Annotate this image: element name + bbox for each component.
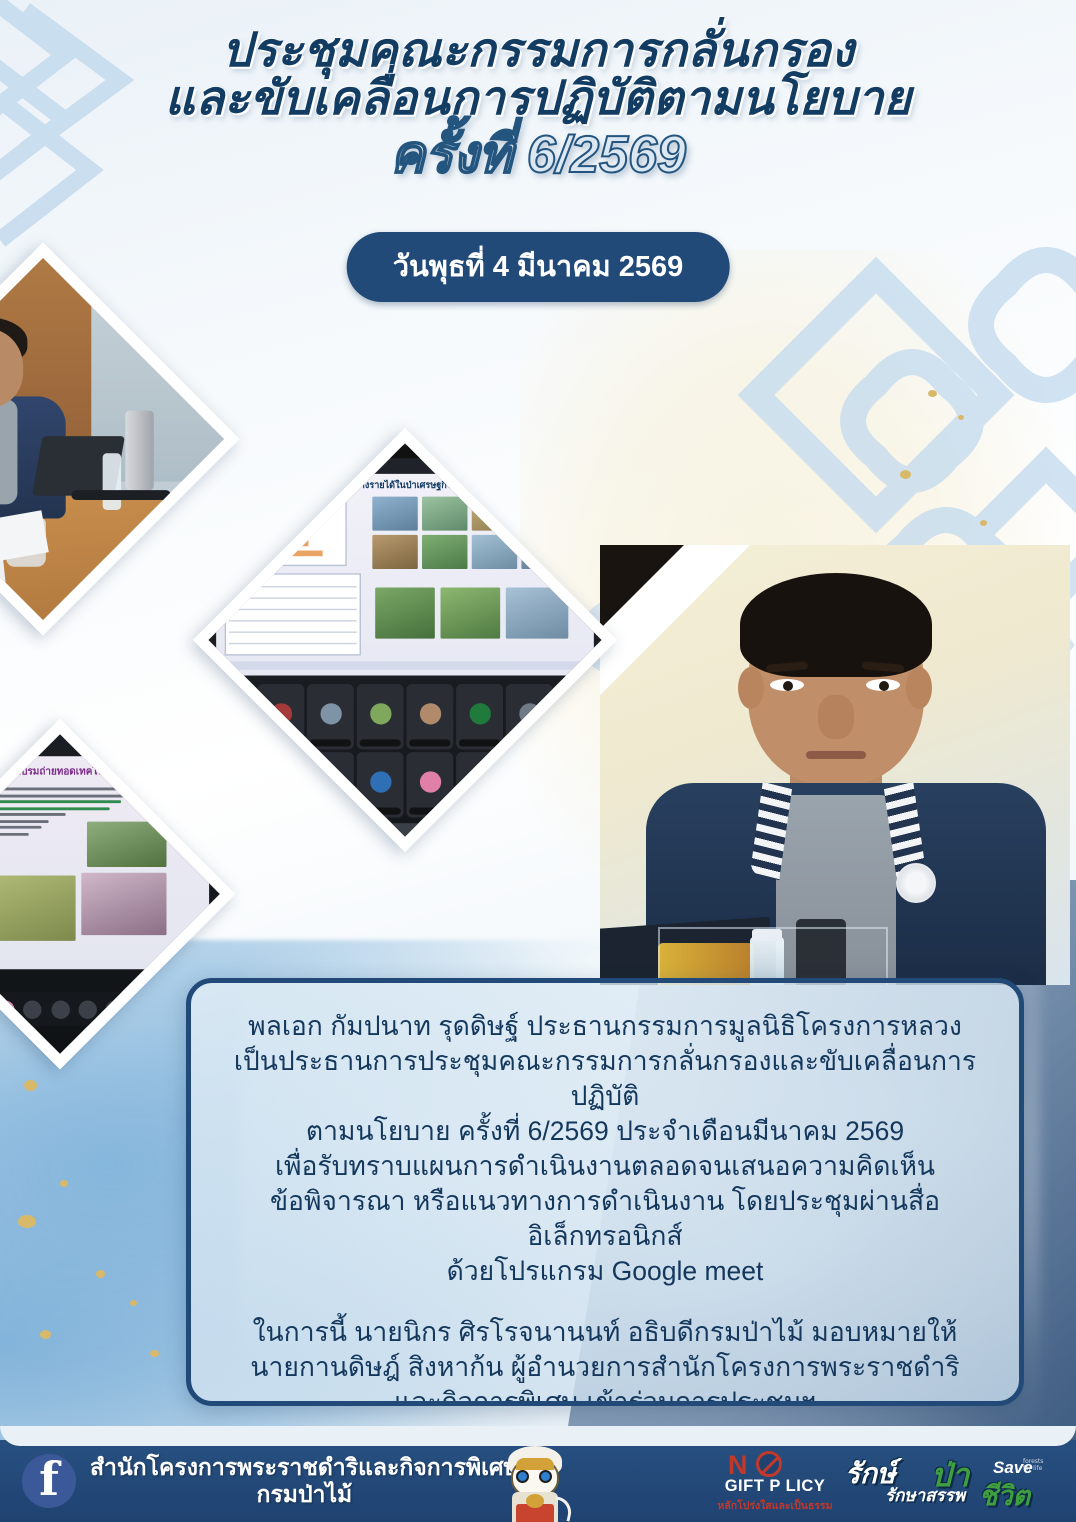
gold-fleck (980, 520, 987, 526)
title-line-1: ประชุมคณะกรรมการกลั่นกรอง (0, 26, 1076, 74)
gold-fleck (40, 1330, 51, 1339)
gold-fleck (150, 1350, 159, 1357)
save-forest-word-3: รักษาสรรพ (885, 1482, 965, 1509)
desc-p2-line-2: นายกานดิษฎ์ สิงหาก้น ผู้อำนวยการสำนักโคร… (217, 1350, 993, 1385)
desc-p1-line-3: ตามนโยบาย ครั้งที่ 6/2569 ประจำเดือนมีนา… (217, 1114, 993, 1149)
title-line-2: และขับเคลื่อนการปฏิบัติตามนโยบาย (0, 74, 1076, 122)
present-button[interactable] (78, 1000, 96, 1018)
desc-p1-line-4: เพื่อรับทราบแผนการดำเนินงานตลอดจนเสนอควา… (217, 1149, 993, 1184)
participant-tile (456, 684, 503, 749)
desc-p1-line-6: ด้วยโปรแกรม Google meet (217, 1254, 993, 1289)
desc-p2-line-3: และกิจการพิเศษ เข้าร่วมการประชุมฯ (217, 1385, 993, 1406)
main-portrait-photo (600, 545, 1070, 985)
gold-fleck (130, 1300, 137, 1306)
participant-tile (357, 684, 404, 749)
no-gift-n-letter: N (728, 1450, 747, 1481)
no-gift-policy-text: GIFT P LICY (700, 1477, 850, 1496)
webcam-icon (384, 445, 427, 458)
no-gift-policy-logo: N GIFT P LICY หลักโปร่งใสและเป็นธรรม (700, 1450, 850, 1514)
save-forest-tagline: forests for life (1023, 1459, 1050, 1472)
desc-p1-line-2: เป็นประธานการประชุมคณะกรรมการกลั่นกรองแล… (217, 1044, 993, 1114)
save-forest-logo: รักษ์ ป่า Save forests for life รักษาสรร… (845, 1452, 1050, 1510)
title-line-3-session: ครั้งที่ 6/2569 (0, 127, 1076, 184)
organization-name: สำนักโครงการพระราชดำริและกิจการพิเศษ กรม… (90, 1454, 519, 1507)
thai-mascot-icon (498, 1446, 572, 1522)
participant-tile (307, 684, 354, 749)
desc-p1-line-1: พลเอก กัมปนาท รุดดิษฐ์ ประธานกรรมการมูลน… (217, 1009, 993, 1044)
gold-fleck (928, 390, 937, 397)
uniform-emblem-icon (896, 863, 936, 903)
footer-bar: สำนักโครงการพระราชดำริและกิจการพิเศษ กรม… (0, 1440, 1076, 1522)
participant-tile (406, 684, 453, 749)
gold-fleck (60, 1180, 68, 1187)
gold-fleck (958, 415, 964, 420)
camera-button[interactable] (51, 1000, 69, 1018)
description-paragraph-1: พลเอก กัมปนาท รุดดิษฐ์ ประธานกรรมการมูลน… (217, 1009, 993, 1289)
poster-canvas: ประชุมคณะกรรมการกลั่นกรอง และขับเคลื่อนก… (0, 0, 1076, 1522)
save-forest-word-4: ชีวิต (979, 1474, 1030, 1517)
gold-fleck (96, 1270, 105, 1278)
organization-line-1: สำนักโครงการพระราชดำริและกิจการพิเศษ (90, 1454, 519, 1481)
poster-title-block: ประชุมคณะกรรมการกลั่นกรอง และขับเคลื่อนก… (0, 26, 1076, 184)
paragraph-spacer (217, 1289, 993, 1315)
gold-fleck (18, 1215, 36, 1228)
description-card: พลเอก กัมปนาท รุดดิษฐ์ ประธานกรรมการมูลน… (186, 978, 1024, 1406)
prohibition-sign-icon (756, 1451, 782, 1477)
no-gift-policy-subtext: หลักโปร่งใสและเป็นธรรม (700, 1497, 850, 1514)
organization-line-2: กรมป่าไม้ (90, 1481, 519, 1508)
desc-p2-line-1: ในการนี้ นายนิกร ศิรโรจนานนท์ อธิบดีกรมป… (217, 1315, 993, 1350)
facebook-icon[interactable] (22, 1454, 76, 1508)
mic-button[interactable] (24, 1000, 42, 1018)
participant-tile (357, 752, 404, 817)
gold-fleck (24, 1080, 37, 1091)
participant-tile (406, 752, 453, 817)
desc-p1-line-5: ข้อพิจารณา หรือแนวทางการดำเนินงาน โดยประ… (217, 1184, 993, 1254)
description-paragraph-2: ในการนี้ นายนิกร ศิรโรจนานนท์ อธิบดีกรมป… (217, 1315, 993, 1406)
date-badge: วันพุธที่ 4 มีนาคม 2569 (347, 232, 730, 302)
gold-fleck (900, 470, 911, 479)
